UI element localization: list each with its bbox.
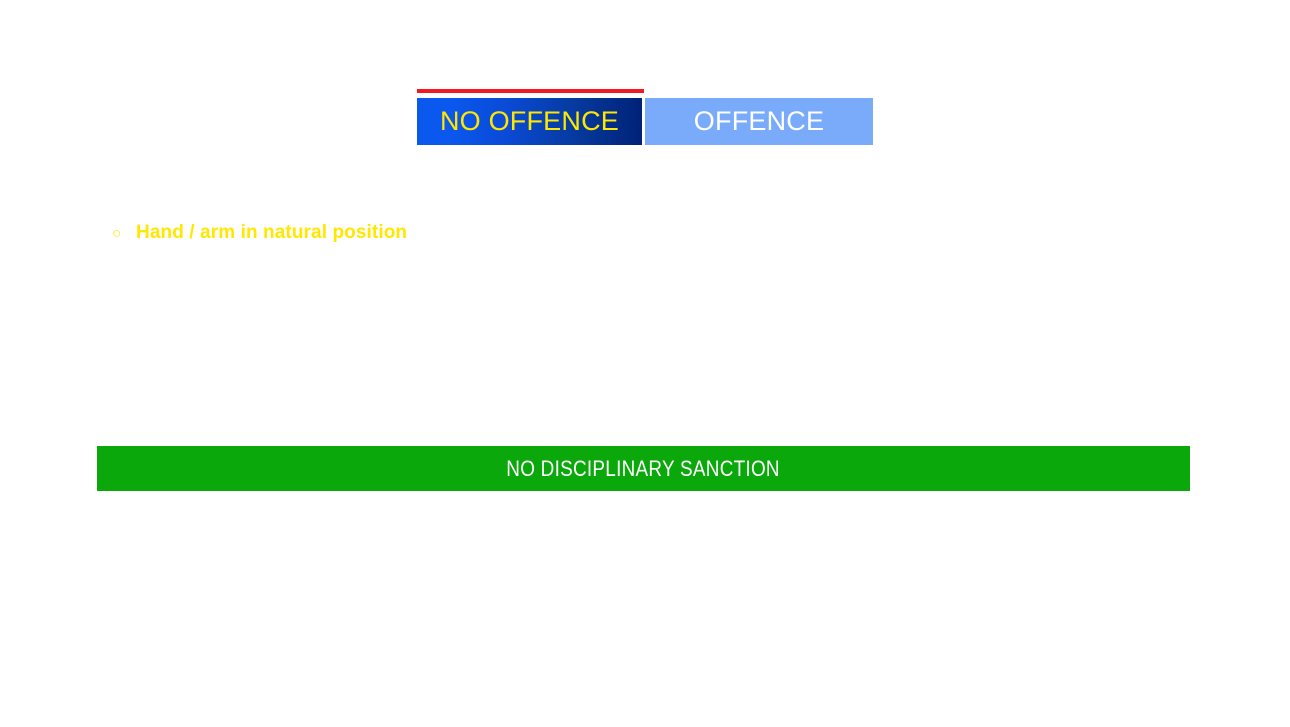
- hollow-circle-bullet-icon: ○: [112, 221, 136, 247]
- selected-tab-accent-rule: [417, 89, 644, 93]
- tab-offence-label: OFFENCE: [694, 106, 824, 137]
- tab-no-offence-label: NO OFFENCE: [440, 106, 619, 137]
- tab-no-offence[interactable]: NO OFFENCE: [417, 98, 642, 145]
- list-item: ○ Hand / arm in natural position: [112, 220, 812, 247]
- criteria-item-label: Hand / arm in natural position: [136, 220, 812, 246]
- criteria-list: ○ Hand / arm in natural position: [112, 220, 812, 247]
- slide-canvas: NO OFFENCE OFFENCE ○ Hand / arm in natur…: [0, 0, 1290, 727]
- outcome-banner: NO DISCIPLINARY SANCTION: [97, 446, 1190, 491]
- offence-decision-tabs: NO OFFENCE OFFENCE: [417, 89, 873, 145]
- outcome-banner-label: NO DISCIPLINARY SANCTION: [507, 456, 781, 482]
- tab-offence[interactable]: OFFENCE: [645, 98, 873, 145]
